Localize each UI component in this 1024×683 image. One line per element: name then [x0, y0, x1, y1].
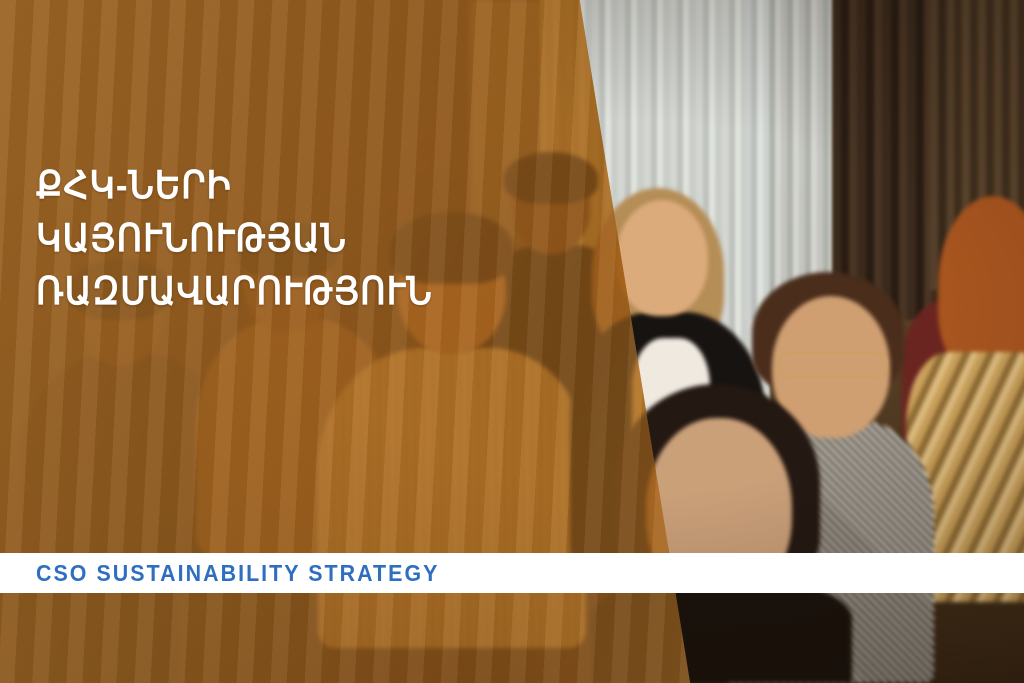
promo-banner: ՔՀԿ-ՆԵՐԻ ԿԱՅՈՒՆՈՒԹՅԱՆ ՌԱԶՄԱՎԱՐՈՒԹՅՈՒՆ CS…	[0, 0, 1024, 683]
subtitle-text: CSO SUSTAINABILITY STRATEGY	[36, 560, 439, 587]
page-title: ՔՀԿ-ՆԵՐԻ ԿԱՅՈՒՆՈՒԹՅԱՆ ՌԱԶՄԱՎԱՐՈՒԹՅՈՒՆ	[36, 160, 551, 319]
subtitle-band: CSO SUSTAINABILITY STRATEGY	[0, 553, 1024, 593]
